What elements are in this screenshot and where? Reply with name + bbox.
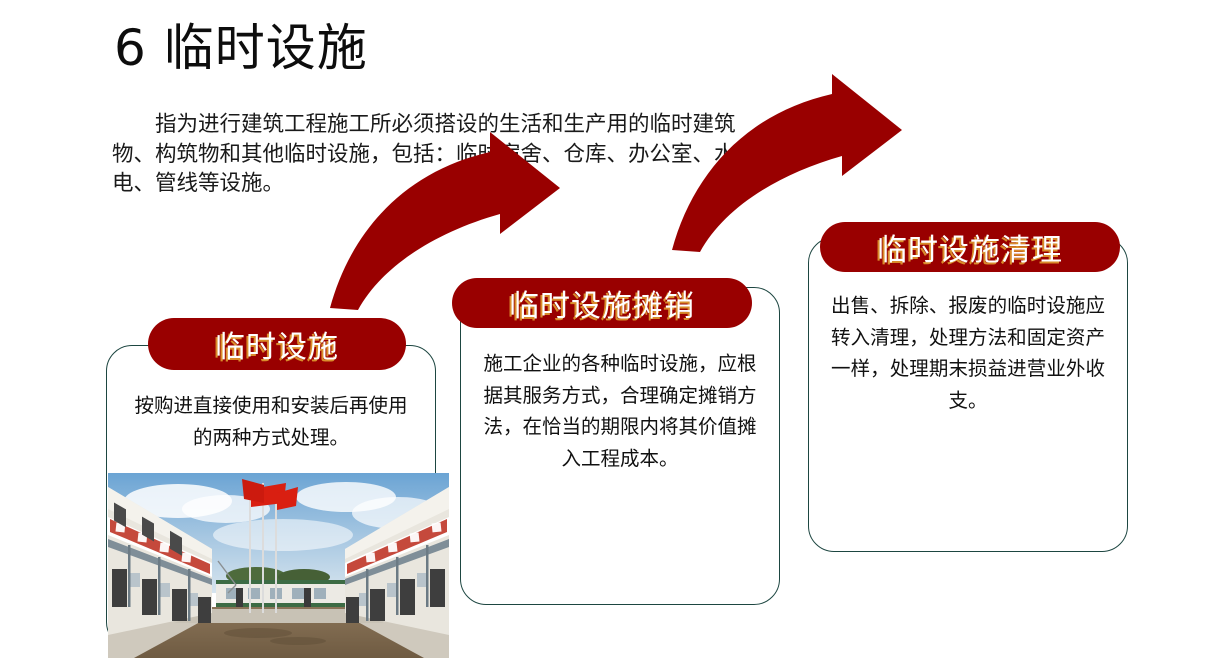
card-body-text: 施工企业的各种临时设施，应根据其服务方式，合理确定摊销方法，在恰当的期限内将其价… <box>461 348 779 474</box>
card-body-text: 出售、拆除、报废的临时设施应转入清理，处理方法和固定资产一样，处理期末损益进营业… <box>809 290 1127 416</box>
badge-facility-disposal[interactable]: 临时设施清理 <box>820 222 1120 272</box>
badge-temporary-facilities[interactable]: 临时设施 <box>148 318 406 370</box>
badge-facility-amortization[interactable]: 临时设施摊销 <box>452 278 752 328</box>
slide-canvas: 6 临时设施 指为进行建筑工程施工所必须搭设的生活和生产用的临时建筑物、构筑物和… <box>0 0 1219 672</box>
page-title: 6 临时设施 <box>114 22 368 75</box>
card-facility-amortization[interactable]: 施工企业的各种临时设施，应根据其服务方式，合理确定摊销方法，在恰当的期限内将其价… <box>460 287 780 605</box>
card-facility-disposal[interactable]: 出售、拆除、报废的临时设施应转入清理，处理方法和固定资产一样，处理期末损益进营业… <box>808 237 1128 552</box>
temporary-housing-photo <box>108 473 449 658</box>
card-body-text: 按购进直接使用和安装后再使用的两种方式处理。 <box>107 390 435 453</box>
